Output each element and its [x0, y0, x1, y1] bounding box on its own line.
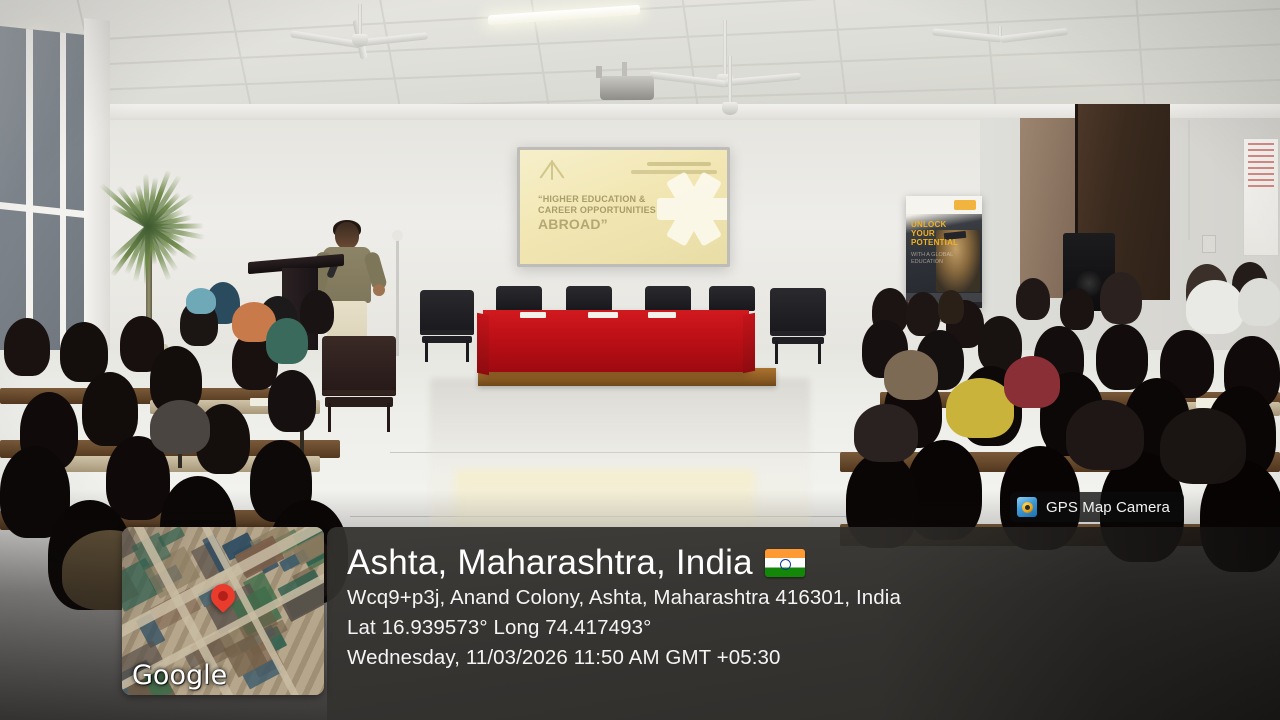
table-paper-3: [648, 312, 676, 318]
audience-shoulder-white-shirt: [1186, 280, 1244, 334]
location-address: Wcq9+p3j, Anand Colony, Ashta, Maharasht…: [347, 583, 1262, 613]
audience-head: [300, 290, 334, 334]
microphone-stand: [396, 238, 399, 356]
slide-brand-bar: [647, 162, 711, 166]
gps-camera-globe-icon: [1017, 497, 1037, 517]
table-paper-1: [520, 312, 546, 318]
slide-title-line2: CAREER OPPORTUNITIES: [538, 205, 688, 216]
location-datetime: Wednesday, 11/03/2026 11:50 AM GMT +05:3…: [347, 643, 1262, 673]
audience-head: [1060, 288, 1094, 330]
wall-cable: [1188, 120, 1190, 240]
dais-table-red-cloth: [483, 310, 749, 372]
audience-head: [1096, 324, 1148, 390]
banner-subtext: WITH A GLOBAL EDUCATION: [911, 252, 982, 265]
projection-screen: “HIGHER EDUCATION & CAREER OPPORTUNITIES…: [517, 147, 730, 267]
slide-title-line3: ABROAD”: [538, 216, 688, 232]
audience-shoulder-red: [1004, 356, 1060, 408]
audience-shoulder: [266, 318, 308, 364]
audience-head: [4, 318, 50, 376]
projected-slide: “HIGHER EDUCATION & CAREER OPPORTUNITIES…: [520, 150, 727, 264]
audience-head: [1016, 278, 1050, 320]
audience-shoulder: [150, 400, 210, 454]
location-info-panel: Ashta, Maharashtra, India Wcq9+p3j, Anan…: [327, 527, 1280, 720]
google-watermark: Google: [132, 661, 227, 691]
gps-map-camera-badge: GPS Map Camera: [1010, 492, 1184, 522]
chair-foreground: [322, 336, 396, 432]
wall-socket: [1202, 235, 1216, 253]
ceiling-fan-3: [940, 26, 1060, 70]
india-flag-icon: [765, 549, 805, 577]
ceiling-tile-grid: [0, 0, 1280, 118]
gps-map-camera-photo: “HIGHER EDUCATION & CAREER OPPORTUNITIES…: [0, 0, 1280, 720]
notice-board: [1243, 138, 1279, 256]
gps-badge-label: GPS Map Camera: [1046, 499, 1170, 516]
left-window: [0, 26, 96, 366]
ceiling-projector: [600, 76, 654, 100]
slide-title-block: “HIGHER EDUCATION & CAREER OPPORTUNITIES…: [538, 194, 688, 232]
audience-head-scarf: [186, 288, 216, 314]
ceiling-fan-hanger: [715, 56, 745, 116]
banner-logo-icon: [954, 200, 976, 210]
banner-line3: POTENTIAL: [911, 238, 958, 247]
slide-title-line1: “HIGHER EDUCATION &: [538, 194, 688, 205]
audience-head-front: [938, 290, 964, 324]
chair-back-1: [420, 290, 474, 362]
banner-headline: UNLOCK YOUR POTENTIAL: [911, 220, 958, 247]
location-coordinates: Lat 16.939573° Long 74.417493°: [347, 613, 1262, 643]
audience-head: [268, 370, 316, 432]
audience-shoulder: [1066, 400, 1144, 470]
slide-logo-icon: [542, 160, 562, 180]
audience-shoulder: [884, 350, 938, 400]
audience-shoulder: [854, 404, 918, 462]
banner-line2: YOUR: [911, 229, 958, 238]
audience-head: [82, 372, 138, 446]
audience-shoulder-white-shirt: [1238, 278, 1280, 326]
chair-back-right: [770, 288, 826, 364]
banner-line1: UNLOCK: [911, 220, 958, 229]
audience-head: [906, 292, 940, 336]
audience-head: [906, 440, 982, 540]
map-thumbnail[interactable]: Google: [122, 527, 324, 695]
location-title: Ashta, Maharashtra, India: [347, 543, 753, 583]
location-title-row: Ashta, Maharashtra, India: [347, 543, 1262, 583]
ceiling-fan-1: [300, 4, 420, 52]
audience-shoulder: [1160, 408, 1246, 484]
table-paper-2: [588, 312, 618, 318]
audience-head: [1100, 272, 1142, 324]
ceiling: [0, 0, 1280, 118]
